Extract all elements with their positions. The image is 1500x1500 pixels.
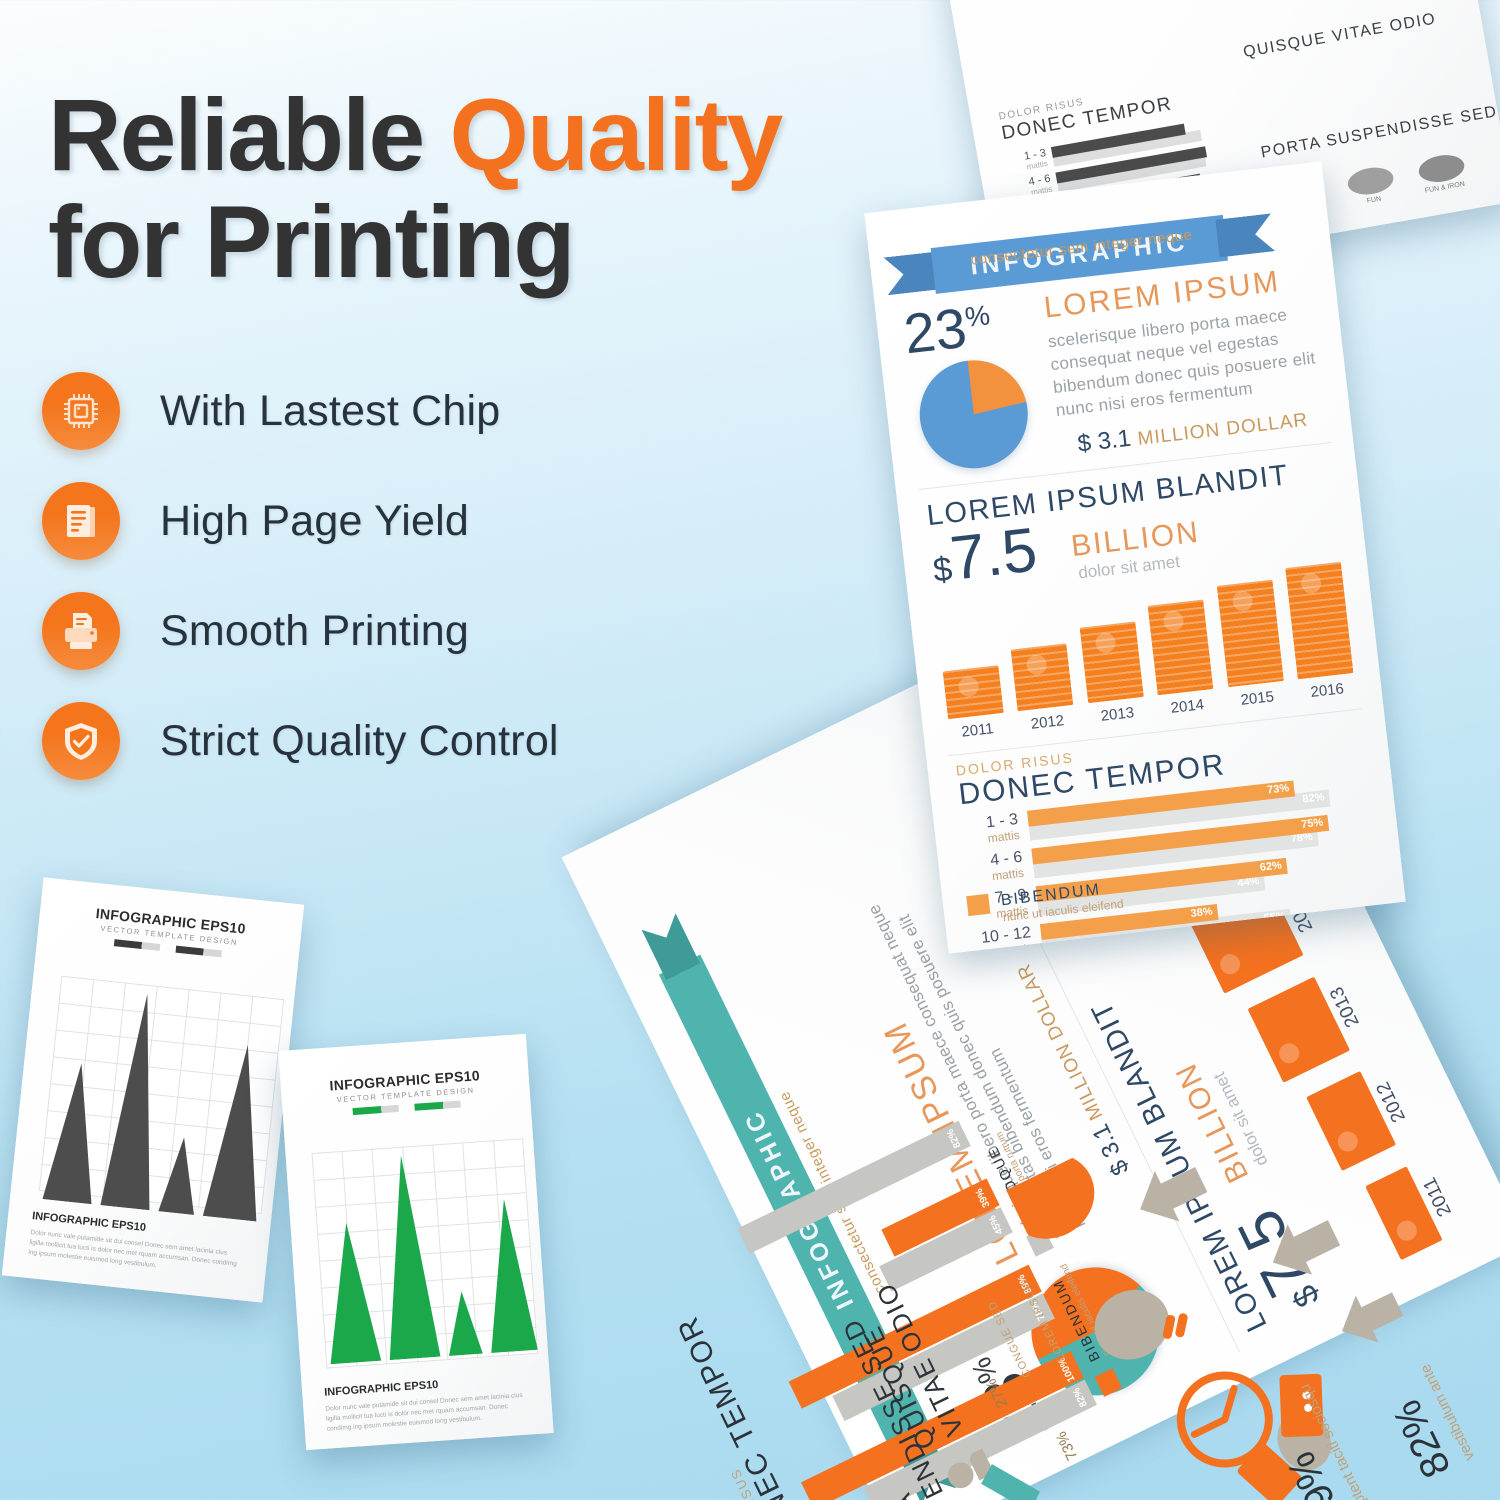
headline-line-1-plain: Reliable — [48, 78, 450, 192]
chart-sheet-grey[interactable]: INFOGRAPHIC EPS10 VECTOR TEMPLATE DESIGN… — [2, 877, 304, 1302]
chip-icon — [42, 372, 120, 450]
chart-grid — [312, 1138, 539, 1368]
chart-grid — [39, 976, 284, 1214]
peak-series-grey — [38, 976, 284, 1222]
quisque-sub-2: LOREM IPSUM — [1018, 1278, 1067, 1362]
peak-series-green — [312, 1138, 538, 1364]
poster-canvas: Reliable Quality for Printing With Laste… — [0, 0, 1500, 1500]
quisque-sub-1: CONGUE SED — [986, 1299, 1034, 1380]
quisque-value-2: 27% — [983, 1376, 1011, 1410]
orange-blandit-number: $7.5 — [928, 514, 1040, 596]
feature-item-chip: With Lastest Chip — [42, 356, 702, 466]
feature-label: Strict Quality Control — [160, 717, 559, 766]
shield-check-icon — [42, 702, 120, 780]
feature-label: Smooth Printing — [160, 607, 469, 656]
teal-poster-lower-overlay: DOLOR RISUS DONEC TEMPOR 82% 100% 78% 89… — [620, 690, 1500, 1500]
chart-sheet-green[interactable]: INFOGRAPHIC EPS10 VECTOR TEMPLATE DESIGN… — [278, 1034, 553, 1450]
year-bar — [1216, 580, 1283, 688]
year-bar — [1148, 600, 1214, 696]
document-pages-icon — [42, 482, 120, 560]
feature-label: With Lastest Chip — [160, 387, 500, 436]
feature-item-page-yield: High Page Yield — [42, 466, 702, 576]
headline-line-1-accent: Quality — [450, 78, 782, 192]
headline-line-2: for Printing — [48, 185, 574, 299]
feature-item-smooth-printing: Smooth Printing — [42, 576, 702, 686]
feature-item-quality-control: Strict Quality Control — [42, 686, 702, 796]
feature-label: High Page Yield — [160, 497, 469, 546]
orange-pie-percent: 23% — [901, 292, 995, 366]
feature-list: With Lastest Chip High Page Yield — [42, 356, 702, 796]
printer-icon — [42, 592, 120, 670]
quisque-value-1: 73% — [1053, 1428, 1081, 1462]
page-title: Reliable Quality for Printing — [48, 82, 928, 296]
